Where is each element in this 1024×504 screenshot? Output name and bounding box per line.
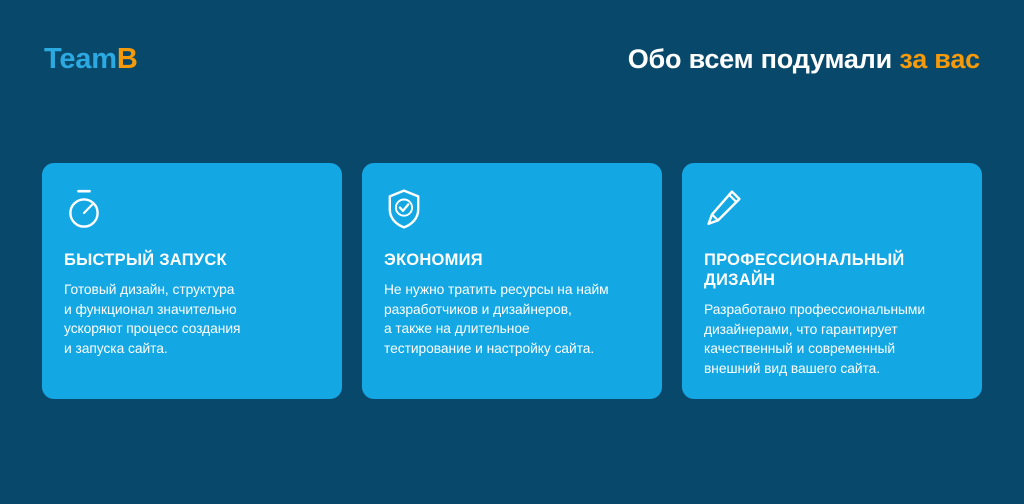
feature-card-title: ЭКОНОМИЯ (384, 250, 640, 270)
feature-card-body: Готовый дизайн, структура и функционал з… (64, 280, 320, 358)
feature-card-professional-design[interactable]: ПРОФЕССИОНАЛЬНЫЙ ДИЗАЙН Разработано проф… (682, 163, 982, 399)
feature-card-fast-launch[interactable]: БЫСТРЫЙ ЗАПУСК Готовый дизайн, структура… (42, 163, 342, 399)
page-header: TeamB Обо всем подумали за вас (0, 0, 1024, 118)
logo-text-primary: Team (44, 43, 117, 75)
stopwatch-icon (64, 188, 104, 230)
feature-card-list: БЫСТРЫЙ ЗАПУСК Готовый дизайн, структура… (42, 163, 982, 399)
brand-logo[interactable]: TeamB (44, 45, 138, 74)
logo-text-accent: B (117, 43, 138, 75)
feature-card-body: Не нужно тратить ресурсы на найм разрабо… (384, 280, 640, 358)
feature-card-savings[interactable]: ЭКОНОМИЯ Не нужно тратить ресурсы на най… (362, 163, 662, 399)
page-title-accent: за вас (899, 44, 980, 74)
feature-card-title: ПРОФЕССИОНАЛЬНЫЙ ДИЗАЙН (704, 250, 960, 290)
page-title: Обо всем подумали за вас (628, 46, 980, 73)
feature-card-title: БЫСТРЫЙ ЗАПУСК (64, 250, 320, 270)
page-title-main: Обо всем подумали (628, 44, 900, 74)
shield-check-icon (384, 188, 424, 230)
feature-card-body: Разработано профессиональными дизайнерам… (704, 300, 960, 378)
pencil-icon (704, 188, 744, 230)
